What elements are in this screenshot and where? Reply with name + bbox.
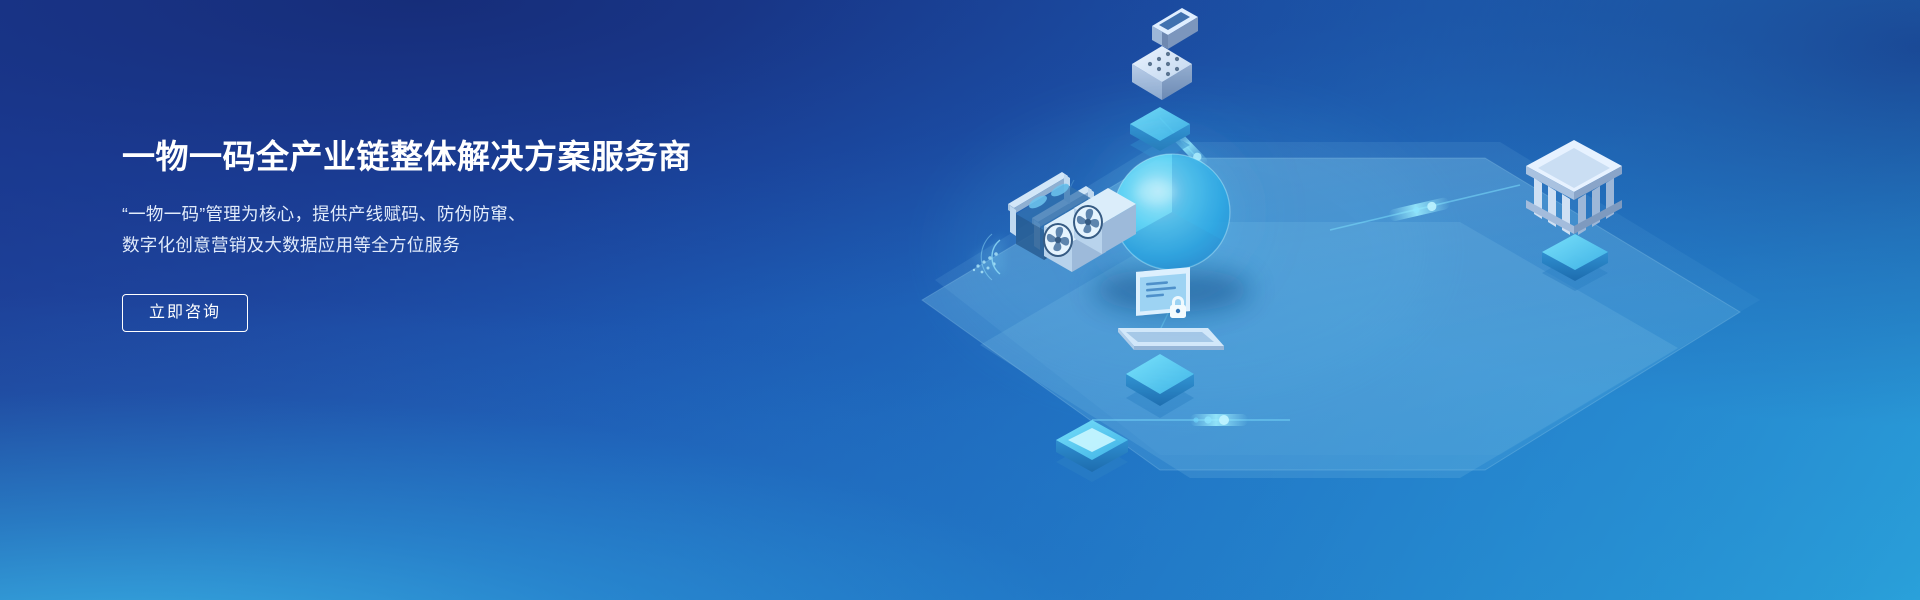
- hero-banner: 一物一码全产业链整体解决方案服务商 “一物一码”管理为核心，提供产线赋码、防伪防…: [0, 0, 1920, 600]
- hero-subtitle-line-2: 数字化创意营销及大数据应用等全方位服务: [122, 230, 822, 261]
- page-title: 一物一码全产业链整体解决方案服务商: [122, 137, 822, 177]
- hero-subtitle: “一物一码”管理为核心，提供产线赋码、防伪防窜、 数字化创意营销及大数据应用等全…: [122, 199, 822, 261]
- hero-subtitle-line-1: “一物一码”管理为核心，提供产线赋码、防伪防窜、: [122, 199, 822, 230]
- consult-now-button[interactable]: 立即咨询: [122, 294, 248, 332]
- hero-copy: 一物一码全产业链整体解决方案服务商 “一物一码”管理为核心，提供产线赋码、防伪防…: [122, 137, 822, 332]
